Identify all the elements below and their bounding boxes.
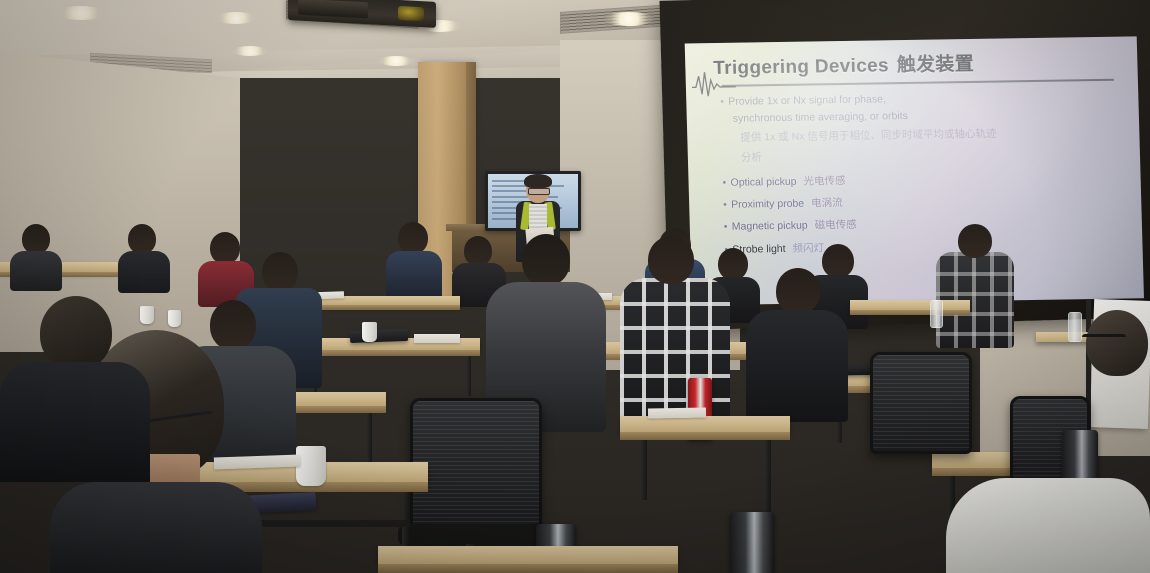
attendee-suit-left — [0, 296, 150, 476]
glasses-icon — [528, 188, 550, 195]
paper-cup — [362, 322, 377, 342]
head — [522, 234, 570, 286]
desk — [378, 546, 678, 564]
bullet-text: Optical pickup — [730, 176, 796, 189]
head — [398, 222, 428, 254]
head — [648, 236, 694, 284]
slide-bullet-list: •Provide 1x or Nx signal for phase, sync… — [720, 89, 1125, 265]
bullet-text: Magnetic pickup — [732, 220, 808, 233]
bullet-text-cn: 光电传感 — [803, 175, 845, 188]
paper-cup — [296, 446, 326, 486]
torso — [946, 478, 1150, 573]
bullet-text-cn: 磁电传感 — [815, 219, 857, 232]
desk-leg — [640, 440, 647, 500]
attendee-dark-back-right — [1074, 310, 1150, 460]
slide-bullet: 分析 — [734, 144, 1122, 165]
attendee — [8, 224, 62, 284]
desk-leg — [466, 356, 471, 396]
head — [40, 296, 112, 370]
head — [776, 268, 820, 314]
slide-title-cn: 触发装置 — [897, 54, 975, 76]
bullet-text: Proximity probe — [731, 198, 804, 211]
head — [128, 224, 156, 254]
desk-leg — [764, 440, 771, 512]
bullet-text-cn: 电涡流 — [811, 197, 843, 209]
bullet-text: synchronous time averaging, or orbits — [733, 110, 908, 125]
desk — [850, 300, 970, 310]
projector-lens-icon — [398, 6, 424, 21]
attendee — [386, 222, 442, 292]
slide-bullet: •Optical pickup光电传感 — [722, 169, 1122, 190]
bullet-text-cn: 提供 1x 或 Nx 信号用于相位、同步时域平均或轴心轨迹 — [740, 128, 996, 144]
ceiling-light — [232, 46, 268, 56]
attendee — [118, 224, 170, 286]
office-chair[interactable] — [410, 398, 542, 536]
ceiling-light — [216, 12, 256, 24]
water-bottle — [930, 300, 943, 328]
laptop — [350, 329, 408, 343]
bullet-text: Provide 1x or Nx signal for phase, — [728, 93, 886, 107]
torso — [50, 482, 262, 573]
slide-bullet: •Magnetic pickup磁电传感 — [724, 214, 1124, 235]
office-chair-seat[interactable] — [398, 524, 548, 546]
projector-body — [298, 0, 368, 18]
ceiling-light — [58, 6, 104, 20]
head — [718, 248, 748, 280]
slide-bullet: 提供 1x 或 Nx 信号用于相位、同步时域平均或轴心轨迹 — [733, 125, 1121, 146]
slide-bullet: •Proximity probe电涡流 — [723, 192, 1123, 213]
classroom-photo: Triggering Devices触发装置 •Provide 1x or Nx… — [0, 0, 1150, 573]
slide-title-en: Triggering Devices — [713, 55, 889, 79]
attendee — [690, 330, 810, 450]
slide-bullet: •Strobe light频闪灯 — [724, 236, 1124, 257]
vacuum-flask — [730, 512, 774, 573]
ceiling-light — [604, 12, 654, 26]
handout-papers — [414, 334, 460, 343]
torso — [0, 362, 150, 482]
desk-edge — [378, 564, 678, 573]
attendee-grey-hood — [486, 234, 606, 424]
torso — [386, 251, 442, 301]
presenter-hair — [524, 174, 552, 188]
torso — [10, 251, 62, 291]
desk-edge — [850, 310, 970, 315]
desk-edge — [300, 350, 480, 356]
glasses-icon — [1082, 334, 1126, 347]
slide-bullet: synchronous time averaging, or orbits — [733, 106, 1121, 127]
head — [958, 224, 992, 258]
bullet-text-cn: 分析 — [741, 151, 762, 163]
head — [262, 252, 298, 292]
head — [22, 224, 50, 254]
torso — [118, 251, 170, 293]
slide-title: Triggering Devices触发装置 — [713, 47, 1114, 80]
slide-title-rule — [722, 79, 1114, 87]
